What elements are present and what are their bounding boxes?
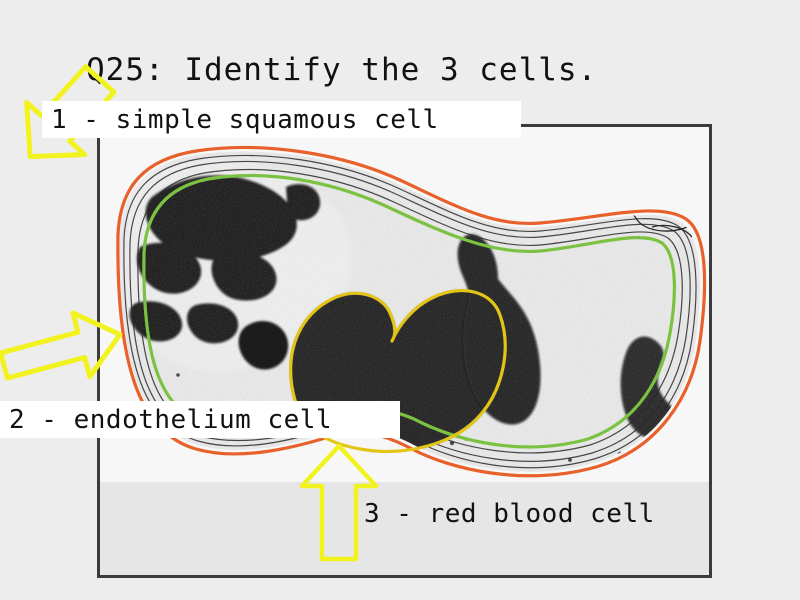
callout-label-2: 2 - endothelium cell bbox=[0, 401, 400, 438]
callout-label-3: 3 - red blood cell bbox=[364, 499, 655, 529]
slide-canvas: Q25: Identify the 3 cells. 1 - simple sq… bbox=[0, 0, 800, 600]
callout-label-1: 1 - simple squamous cell bbox=[42, 101, 521, 138]
slide-title: Q25: Identify the 3 cells. bbox=[86, 52, 597, 88]
arrow-right-icon bbox=[0, 295, 128, 405]
